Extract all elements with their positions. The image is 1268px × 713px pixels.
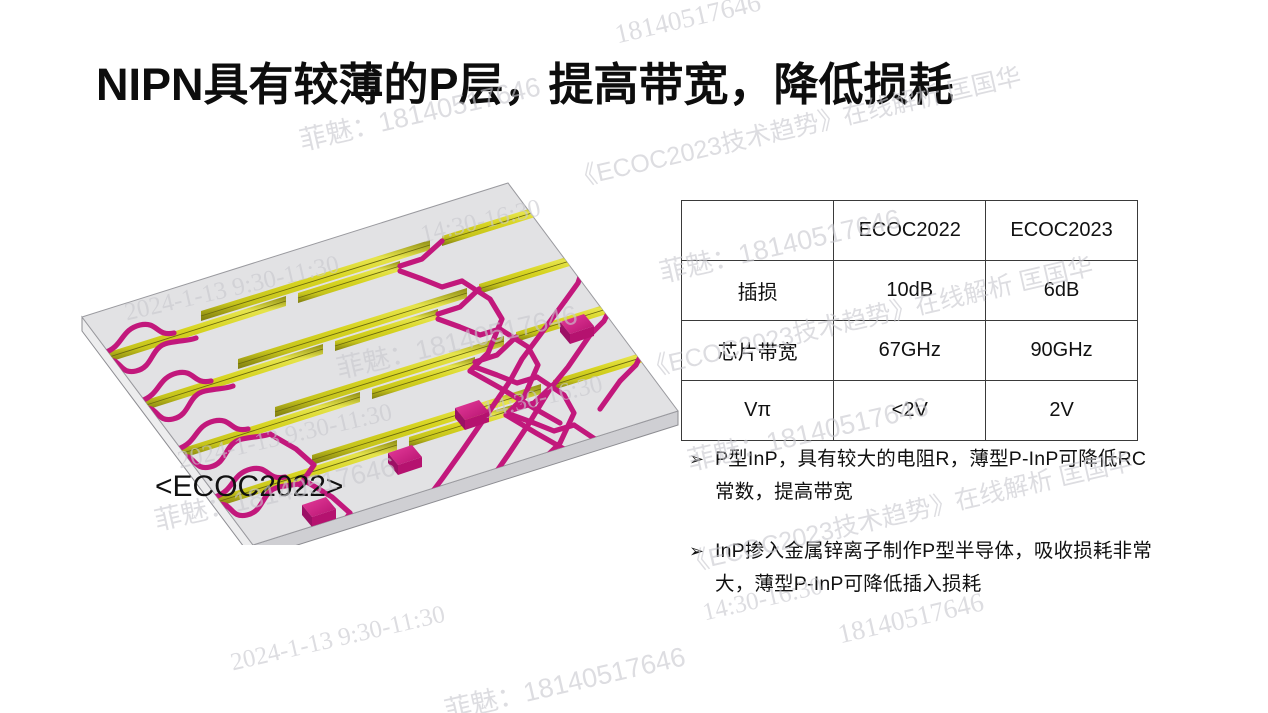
list-item: ➢ P型InP，具有较大的电阻R，薄型P-InP可降低RC常数，提高带宽 xyxy=(689,443,1154,509)
row-label-vpi: Vπ xyxy=(682,381,834,441)
bullet-list: ➢ P型InP，具有较大的电阻R，薄型P-InP可降低RC常数，提高带宽 ➢ I… xyxy=(689,443,1154,627)
cell-chip-bandwidth-2023: 90GHz xyxy=(986,321,1138,381)
list-item: ➢ InP掺入金属锌离子制作P型半导体，吸收损耗非常大，薄型P-InP可降低插入… xyxy=(689,535,1154,601)
table-row: Vπ <2V 2V xyxy=(682,381,1138,441)
cell-vpi-2022: <2V xyxy=(834,381,986,441)
table-row: 芯片带宽 67GHz 90GHz xyxy=(682,321,1138,381)
table-header-row: ECOC2022 ECOC2023 xyxy=(682,201,1138,261)
row-label-chip-bandwidth: 芯片带宽 xyxy=(682,321,834,381)
table-header-ecoc2023: ECOC2023 xyxy=(986,201,1138,261)
comparison-table: ECOC2022 ECOC2023 插损 10dB 6dB 芯片带宽 67GHz… xyxy=(681,200,1138,441)
watermark-text: 2024-1-13 9:30-11:30 xyxy=(228,601,448,678)
slide-canvas: NIPN具有较薄的P层，提高带宽，降低损耗 xyxy=(0,0,1268,713)
arrow-bullet-icon: ➢ xyxy=(689,443,715,476)
watermark-text: 18140517646 xyxy=(612,0,764,50)
bullet-text-2: InP掺入金属锌离子制作P型半导体，吸收损耗非常大，薄型P-InP可降低插入损耗 xyxy=(715,535,1154,601)
cell-insertion-loss-2023: 6dB xyxy=(986,261,1138,321)
figure-caption: <ECOC2022> xyxy=(155,470,343,504)
table-row: 插损 10dB 6dB xyxy=(682,261,1138,321)
cell-chip-bandwidth-2022: 67GHz xyxy=(834,321,986,381)
cell-vpi-2023: 2V xyxy=(986,381,1138,441)
row-label-insertion-loss: 插损 xyxy=(682,261,834,321)
cell-insertion-loss-2022: 10dB xyxy=(834,261,986,321)
table-header-ecoc2022: ECOC2022 xyxy=(834,201,986,261)
bullet-text-1: P型InP，具有较大的电阻R，薄型P-InP可降低RC常数，提高带宽 xyxy=(715,443,1154,509)
table-header-blank xyxy=(682,201,834,261)
watermark-text: 菲魅：18140517646 xyxy=(440,635,689,713)
arrow-bullet-icon: ➢ xyxy=(689,535,715,568)
page-title: NIPN具有较薄的P层，提高带宽，降低损耗 xyxy=(96,48,954,113)
